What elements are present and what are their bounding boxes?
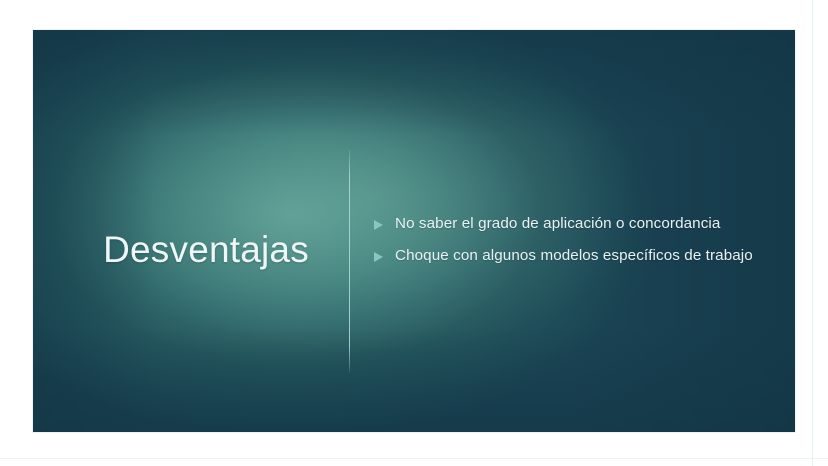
list-item: No saber el grado de aplicación o concor… [373,214,795,234]
triangle-right-bullet-icon [373,220,384,231]
slide-bullet-list: No saber el grado de aplicación o concor… [373,214,795,278]
page-guide-line-bottom [0,458,828,459]
slide-title: Desventajas [88,230,324,271]
document-page: Desventajas No saber el grado de aplicac… [0,0,828,466]
page-guide-line-right [812,0,813,466]
vertical-divider-line [349,150,350,372]
presentation-slide[interactable]: Desventajas No saber el grado de aplicac… [33,30,795,432]
triangle-right-bullet-icon [373,252,384,263]
bullet-text: Choque con algunos modelos específicos d… [395,246,753,266]
list-item: Choque con algunos modelos específicos d… [373,246,795,266]
bullet-text: No saber el grado de aplicación o concor… [395,214,720,234]
